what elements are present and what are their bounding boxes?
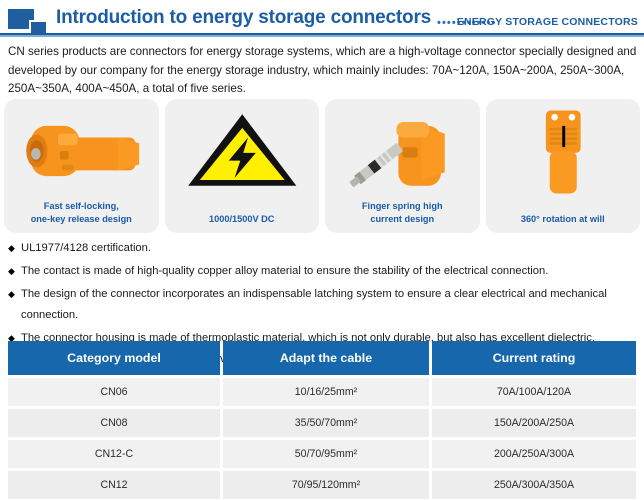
header-divider bbox=[0, 33, 644, 37]
feature-card-caption: Fast self-locking,one-key release design bbox=[8, 200, 155, 225]
cell-adapt-cable: 10/16/25mm² bbox=[223, 378, 429, 406]
cell-adapt-cable: 50/70/95mm² bbox=[223, 440, 429, 468]
page-root: Introduction to energy storage connector… bbox=[0, 0, 644, 500]
cell-current-rating: 200A/250A/300A bbox=[432, 440, 636, 468]
list-item: ◆ UL1977/4128 certification. bbox=[8, 238, 638, 259]
spec-table: Category model Adapt the cable Current r… bbox=[8, 341, 636, 500]
table-row: CN12 70/95/120mm² 250A/300A/350A bbox=[8, 471, 636, 499]
list-item: ◆ The contact is made of high-quality co… bbox=[8, 261, 638, 282]
cell-adapt-cable: 35/50/70mm² bbox=[223, 409, 429, 437]
cell-current-rating: 70A/100A/120A bbox=[432, 378, 636, 406]
logo-square-small bbox=[29, 20, 46, 34]
header-eyebrow-label: ENERGY STORAGE CONNECTORS bbox=[457, 16, 638, 28]
table-row: CN06 10/16/25mm² 70A/100A/120A bbox=[8, 378, 636, 406]
two-squares-logo-icon bbox=[8, 9, 54, 35]
table-row: CN12-C 50/70/95mm² 200A/250A/300A bbox=[8, 440, 636, 468]
page-header: Introduction to energy storage connector… bbox=[0, 0, 644, 38]
feature-card-caption: 360° rotation at will bbox=[490, 213, 637, 226]
list-item: ◆ The design of the connector incorporat… bbox=[8, 284, 638, 326]
column-header-adapt-cable: Adapt the cable bbox=[223, 341, 429, 375]
cell-adapt-cable: 70/95/120mm² bbox=[223, 471, 429, 499]
table-row: CN08 35/50/70mm² 150A/200A/250A bbox=[8, 409, 636, 437]
feature-card-rotation: 360° rotation at will bbox=[486, 99, 641, 233]
list-item-text: UL1977/4128 certification. bbox=[21, 242, 151, 254]
feature-card-caption: 1000/1500V DC bbox=[169, 213, 316, 226]
diamond-bullet-icon: ◆ bbox=[8, 261, 15, 282]
cell-current-rating: 150A/200A/250A bbox=[432, 409, 636, 437]
feature-card-caption: Finger spring highcurrent design bbox=[329, 200, 476, 225]
list-item-text: The design of the connector incorporates… bbox=[21, 288, 607, 321]
feature-card-list: Fast self-locking,one-key release design… bbox=[4, 99, 640, 233]
cell-category-model: CN12-C bbox=[8, 440, 220, 468]
intro-paragraph: CN series products are connectors for en… bbox=[8, 43, 638, 99]
cell-category-model: CN06 bbox=[8, 378, 220, 406]
orange-connector-with-pin-icon bbox=[325, 103, 480, 199]
orange-vertical-connector-icon bbox=[486, 103, 641, 199]
diamond-bullet-icon: ◆ bbox=[8, 284, 15, 305]
column-header-current-rating: Current rating bbox=[432, 341, 636, 375]
feature-card-finger-spring: Finger spring highcurrent design bbox=[325, 99, 480, 233]
orange-angled-connector-icon bbox=[4, 103, 159, 199]
table-header-row: Category model Adapt the cable Current r… bbox=[8, 341, 636, 375]
feature-card-voltage: 1000/1500V DC bbox=[165, 99, 320, 233]
page-title: Introduction to energy storage connector… bbox=[56, 7, 431, 29]
cell-category-model: CN12 bbox=[8, 471, 220, 499]
list-item-text: The contact is made of high-quality copp… bbox=[21, 265, 548, 277]
cell-category-model: CN08 bbox=[8, 409, 220, 437]
feature-card-self-locking: Fast self-locking,one-key release design bbox=[4, 99, 159, 233]
cell-current-rating: 250A/300A/350A bbox=[432, 471, 636, 499]
diamond-bullet-icon: ◆ bbox=[8, 238, 15, 259]
column-header-category-model: Category model bbox=[8, 341, 220, 375]
high-voltage-warning-triangle-icon bbox=[165, 103, 320, 199]
